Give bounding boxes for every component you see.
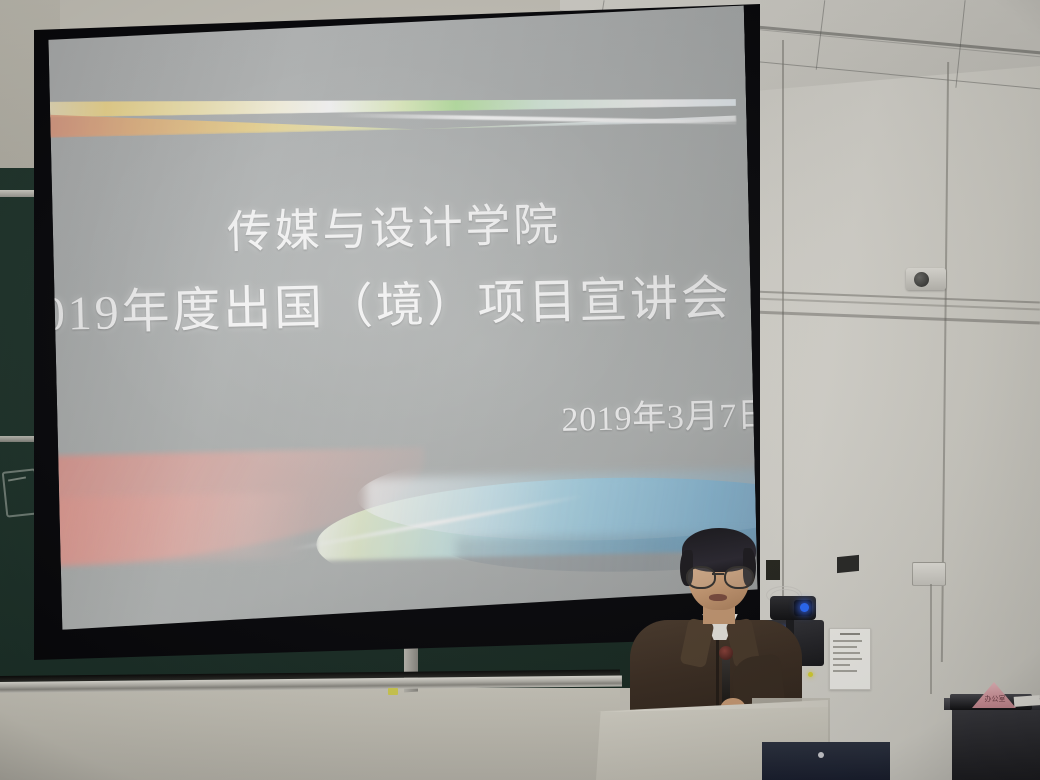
slide-deco-highlight (336, 113, 736, 124)
notice-line (833, 652, 860, 654)
microphone-head (719, 646, 733, 660)
notice-line (833, 640, 862, 642)
wall-speaker-knob (914, 272, 929, 287)
glasses-bridge (712, 573, 724, 575)
lower-wall (0, 686, 620, 780)
equipment-cabinet (952, 706, 1040, 780)
lecture-hall-photo: 传媒与设计学院 019年度出国（境）项目宣讲会 2019年3月7日 (0, 0, 1040, 780)
notice-line (833, 670, 857, 672)
podium-knob (818, 752, 824, 758)
paper-sheet (1014, 695, 1040, 707)
equipment-status-led (808, 672, 813, 677)
slide-title-line-2: 019年度出国（境）项目宣讲会 (44, 258, 733, 344)
wall-vent (837, 555, 859, 573)
glasses-icon (686, 566, 752, 585)
wall-notice-paper (829, 628, 871, 690)
slide-top-decoration (44, 81, 757, 142)
notice-line (833, 664, 850, 666)
camera-led (800, 603, 809, 612)
notice-line (833, 646, 857, 648)
wall-outlet[interactable] (912, 562, 946, 586)
glasses-lens (686, 566, 716, 589)
slide-date: 2019年3月7日 (561, 387, 758, 441)
chalk-tray-endcap (388, 688, 398, 695)
podium-front-panel (762, 742, 890, 780)
presenter-mouth (709, 594, 727, 601)
slide-swoosh-pink-soft (44, 492, 307, 565)
slide-title-line-1: 传媒与设计学院 (226, 188, 561, 261)
desk-sign-label: 办公室 (978, 694, 1012, 704)
notice-line (833, 658, 862, 660)
outlet-cable (930, 584, 932, 694)
notice-line (840, 633, 860, 635)
glasses-lens (724, 566, 754, 589)
